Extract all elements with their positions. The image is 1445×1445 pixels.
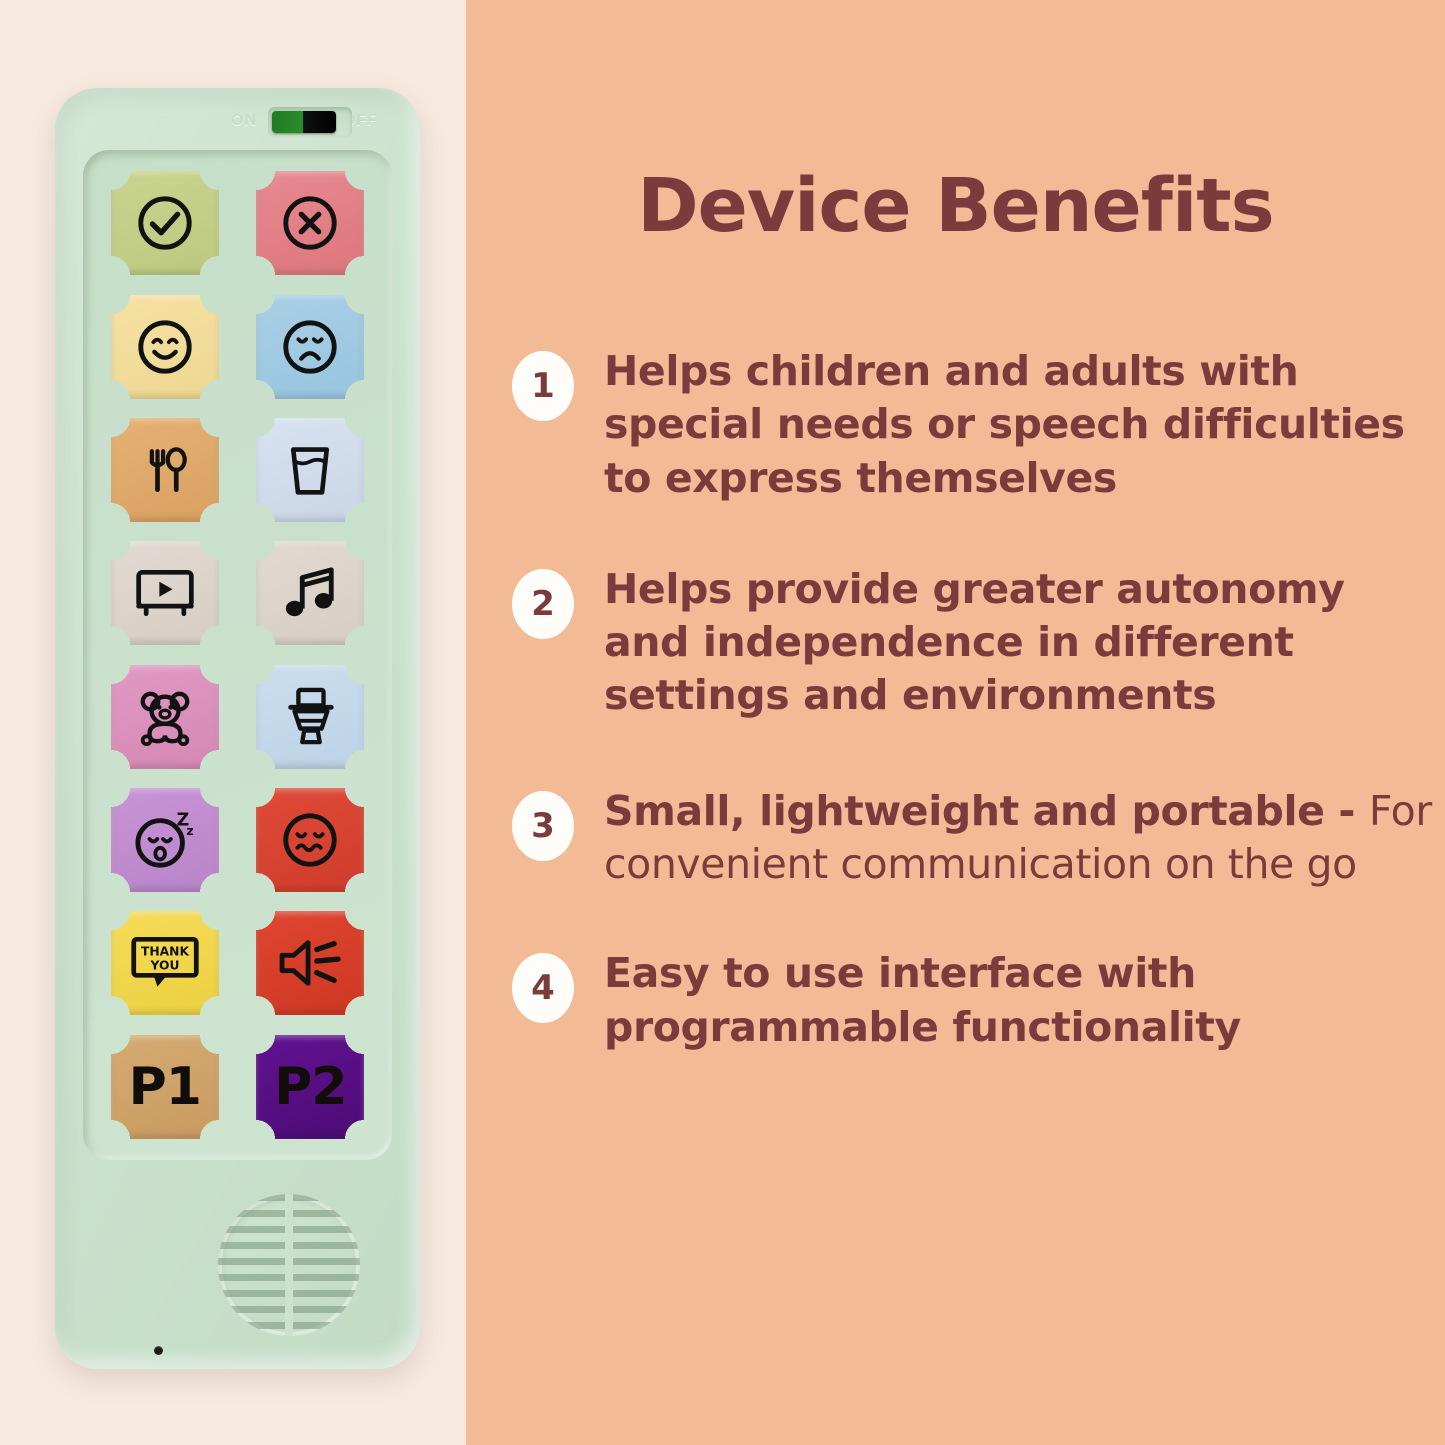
loud-speaker-icon xyxy=(276,936,344,990)
teddy-bear-icon xyxy=(134,687,196,747)
x-circle-icon xyxy=(279,192,341,254)
benefit-text: Easy to use interface with programmable … xyxy=(604,947,1432,1054)
check-circle-icon xyxy=(134,192,196,254)
button-drink[interactable] xyxy=(256,418,364,522)
button-toilet[interactable] xyxy=(256,665,364,769)
page-title: Device Benefits xyxy=(466,163,1445,249)
infographic-stage: ON OFF xyxy=(0,0,1445,1445)
benefit-number-badge: 2 xyxy=(512,569,574,639)
button-cell xyxy=(97,534,233,652)
button-cell xyxy=(243,658,379,776)
thank-you-bubble-icon: THANK YOU xyxy=(129,935,201,991)
svg-text:z: z xyxy=(186,823,193,838)
power-switch-bar[interactable]: ON OFF xyxy=(55,102,420,144)
benefit-text: Helps provide greater autonomy and indep… xyxy=(604,563,1432,723)
button-grid: Z z xyxy=(97,164,378,1146)
benefit-item-4: 4 Easy to use interface with programmabl… xyxy=(512,947,1432,1054)
sick-face-icon xyxy=(279,809,341,871)
sad-face-icon xyxy=(279,316,341,378)
button-no[interactable] xyxy=(256,171,364,275)
benefit-item-1: 1 Helps children and adults with special… xyxy=(512,345,1432,505)
switch-on-label: ON xyxy=(231,112,257,130)
button-toy[interactable] xyxy=(111,665,219,769)
button-cell xyxy=(243,411,379,529)
power-switch-knob[interactable] xyxy=(272,111,336,133)
button-cell xyxy=(97,411,233,529)
button-tv[interactable] xyxy=(111,541,219,645)
button-sad[interactable] xyxy=(256,295,364,399)
button-cell: Z z xyxy=(97,781,233,899)
water-glass-icon xyxy=(284,439,336,501)
button-cell xyxy=(243,781,379,899)
benefits-list: 1 Helps children and adults with special… xyxy=(512,345,1432,1090)
tv-play-icon xyxy=(133,566,197,620)
button-p2[interactable]: P2 xyxy=(256,1035,364,1139)
benefit-text: Helps children and adults with special n… xyxy=(604,345,1432,505)
button-sick[interactable] xyxy=(256,788,364,892)
benefit-item-2: 2 Helps provide greater autonomy and ind… xyxy=(512,563,1432,723)
button-cell: P1 xyxy=(97,1028,233,1146)
benefit-number-badge: 1 xyxy=(512,351,574,421)
benefit-number-badge: 4 xyxy=(512,953,574,1023)
button-thank-you[interactable]: THANK YOU xyxy=(111,911,219,1015)
button-panel: Z z xyxy=(83,150,392,1160)
benefit-text: Small, lightweight and portable - For co… xyxy=(604,785,1432,892)
button-cell xyxy=(97,164,233,282)
microphone-hole xyxy=(154,1346,163,1355)
toilet-icon xyxy=(281,686,339,748)
benefit-number-badge: 3 xyxy=(512,791,574,861)
sleepy-face-icon: Z z xyxy=(133,809,197,871)
music-note-icon xyxy=(281,564,339,622)
fork-spoon-icon xyxy=(135,439,195,501)
button-sleep[interactable]: Z z xyxy=(111,788,219,892)
button-cell xyxy=(243,164,379,282)
benefit-text-bold: Small, lightweight and portable - xyxy=(604,787,1355,835)
benefit-item-3: 3 Small, lightweight and portable - For … xyxy=(512,785,1432,892)
button-music[interactable] xyxy=(256,541,364,645)
button-eat[interactable] xyxy=(111,418,219,522)
happy-face-icon xyxy=(134,316,196,378)
button-happy[interactable] xyxy=(111,295,219,399)
speaker-divider xyxy=(285,1194,293,1336)
button-cell xyxy=(97,287,233,405)
button-cell xyxy=(243,287,379,405)
button-p1[interactable]: P1 xyxy=(111,1035,219,1139)
aac-communication-device: ON OFF xyxy=(55,88,420,1369)
button-cell: P2 xyxy=(243,1028,379,1146)
button-loud[interactable] xyxy=(256,911,364,1015)
p2-text: P2 xyxy=(274,1061,346,1113)
button-cell xyxy=(243,904,379,1022)
speaker-grille xyxy=(218,1194,360,1336)
button-cell xyxy=(97,658,233,776)
p1-text: P1 xyxy=(129,1061,201,1113)
button-cell xyxy=(243,534,379,652)
button-cell: THANK YOU xyxy=(97,904,233,1022)
svg-text:THANK: THANK xyxy=(141,945,189,959)
button-yes[interactable] xyxy=(111,171,219,275)
svg-text:YOU: YOU xyxy=(149,959,179,973)
